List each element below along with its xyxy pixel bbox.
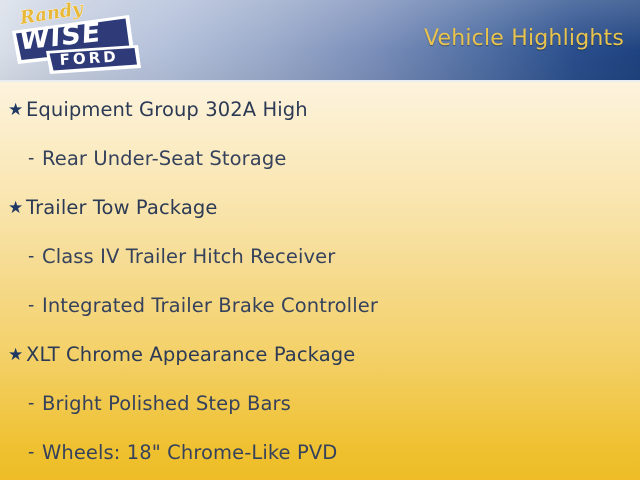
highlight-label: Rear Under-Seat Storage — [42, 147, 286, 170]
highlight-label: Class IV Trailer Hitch Receiver — [42, 245, 335, 268]
highlight-label: Integrated Trailer Brake Controller — [42, 294, 378, 317]
highlight-label: Wheels: 18" Chrome-Like PVD — [42, 441, 337, 464]
logo-ford-text: FORD — [59, 47, 119, 69]
star-bullet-icon: ★ — [8, 199, 26, 216]
dash-bullet-icon: - — [28, 394, 42, 413]
dash-bullet-icon: - — [28, 247, 42, 266]
highlight-subitem: -Class IV Trailer Hitch Receiver — [0, 241, 640, 271]
highlight-subitem: -Rear Under-Seat Storage — [0, 143, 640, 173]
header-bar: WISE FORD Randy Vehicle Highlights — [0, 0, 640, 81]
highlight-item: ★Equipment Group 302A High — [0, 94, 640, 124]
highlight-item: ★Trailer Tow Package — [0, 192, 640, 222]
highlight-label: XLT Chrome Appearance Package — [26, 343, 355, 366]
highlight-label: Bright Polished Step Bars — [42, 392, 291, 415]
randy-wise-ford-logo[interactable]: WISE FORD Randy — [8, 2, 144, 78]
page-title: Vehicle Highlights — [424, 26, 624, 51]
highlight-subitem: -Wheels: 18" Chrome-Like PVD — [0, 437, 640, 467]
highlight-label: Trailer Tow Package — [26, 196, 217, 219]
highlight-item: ★XLT Chrome Appearance Package — [0, 339, 640, 369]
highlight-subitem: -Bright Polished Step Bars — [0, 388, 640, 418]
highlight-subitem: -Integrated Trailer Brake Controller — [0, 290, 640, 320]
dash-bullet-icon: - — [28, 149, 42, 168]
highlights-list: ★Equipment Group 302A High-Rear Under-Se… — [0, 81, 640, 480]
star-bullet-icon: ★ — [8, 346, 26, 363]
highlight-label: Equipment Group 302A High — [26, 98, 308, 121]
dash-bullet-icon: - — [28, 296, 42, 315]
star-bullet-icon: ★ — [8, 101, 26, 118]
dash-bullet-icon: - — [28, 443, 42, 462]
vehicle-highlights-slide: WISE FORD Randy Vehicle Highlights ★Equi… — [0, 0, 640, 480]
